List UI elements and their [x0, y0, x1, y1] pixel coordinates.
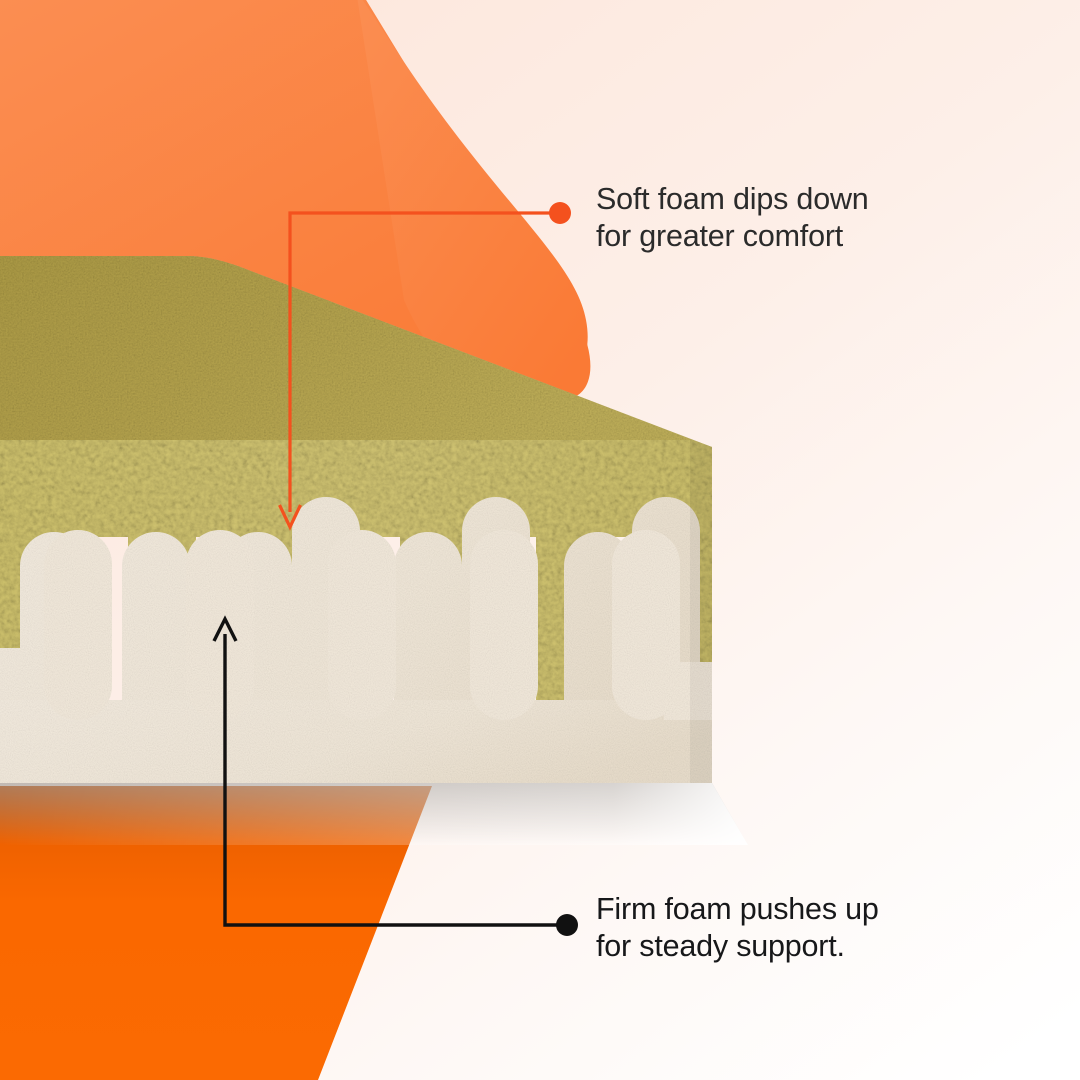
soft-foam-top-face: [0, 256, 712, 447]
product-illustration-layer: [0, 0, 1080, 1080]
slab-right-edge-shading: [690, 440, 712, 783]
leader-marker-soft-foam: [549, 202, 571, 224]
callout-firm-foam-text: Firm foam pushes up for steady support.: [596, 891, 879, 965]
firm-foam-wave-fingers: [0, 530, 740, 783]
foam-mattress-cutaway: [0, 256, 740, 783]
callout-soft-foam-text: Soft foam dips down for greater comfort: [596, 181, 869, 255]
infographic-canvas: Soft foam dips down for greater comfort …: [0, 0, 1080, 1080]
leader-marker-firm-foam: [556, 914, 578, 936]
slab-shadow: [0, 783, 748, 845]
